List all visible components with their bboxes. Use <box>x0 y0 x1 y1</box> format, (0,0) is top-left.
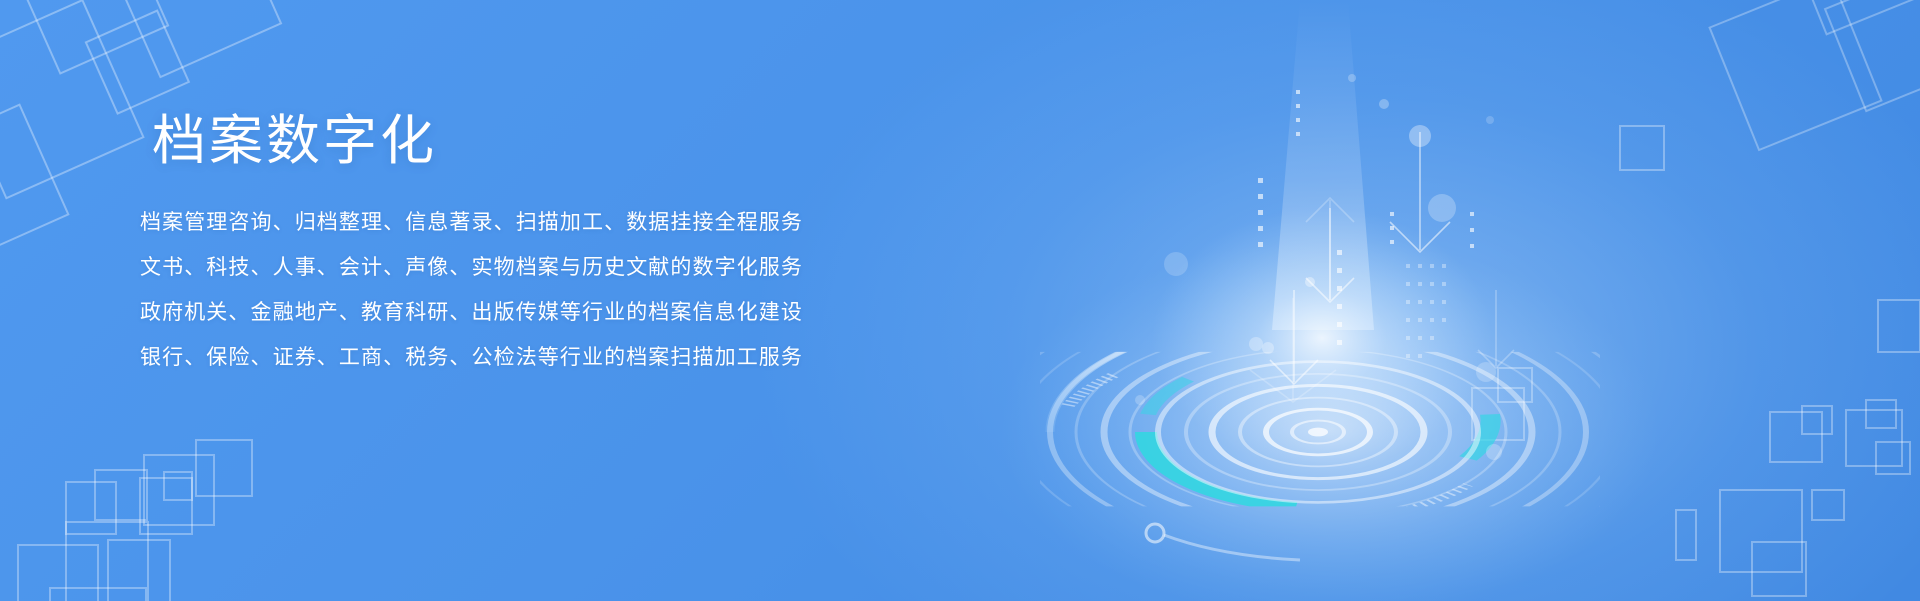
arrow-down-icon <box>1270 290 1318 384</box>
arrow-up-icon <box>1306 198 1354 300</box>
decor-node-icon <box>1146 524 1300 560</box>
arrow-down-icon <box>1478 290 1514 368</box>
page-title: 档案数字化 <box>140 108 960 176</box>
feature-line: 档案管理咨询、归档整理、信息著录、扫描加工、数据挂接全程服务 <box>140 200 960 245</box>
arrow-down-icon <box>1306 208 1354 302</box>
feature-line: 银行、保险、证券、工商、税务、公检法等行业的档案扫描加工服务 <box>140 335 960 380</box>
arrow-down-icon <box>1390 132 1450 252</box>
hero-banner: 档案数字化 档案管理咨询、归档整理、信息著录、扫描加工、数据挂接全程服务 文书、… <box>0 0 1920 601</box>
banner-text-block: 档案数字化 档案管理咨询、归档整理、信息著录、扫描加工、数据挂接全程服务 文书、… <box>140 108 960 380</box>
feature-line: 政府机关、金融地产、教育科研、出版传媒等行业的档案信息化建设 <box>140 290 960 335</box>
feature-line-list: 档案管理咨询、归档整理、信息著录、扫描加工、数据挂接全程服务 文书、科技、人事、… <box>140 200 960 380</box>
feature-line: 文书、科技、人事、会计、声像、实物档案与历史文献的数字化服务 <box>140 245 960 290</box>
arrow-down-icon <box>1250 298 1336 402</box>
